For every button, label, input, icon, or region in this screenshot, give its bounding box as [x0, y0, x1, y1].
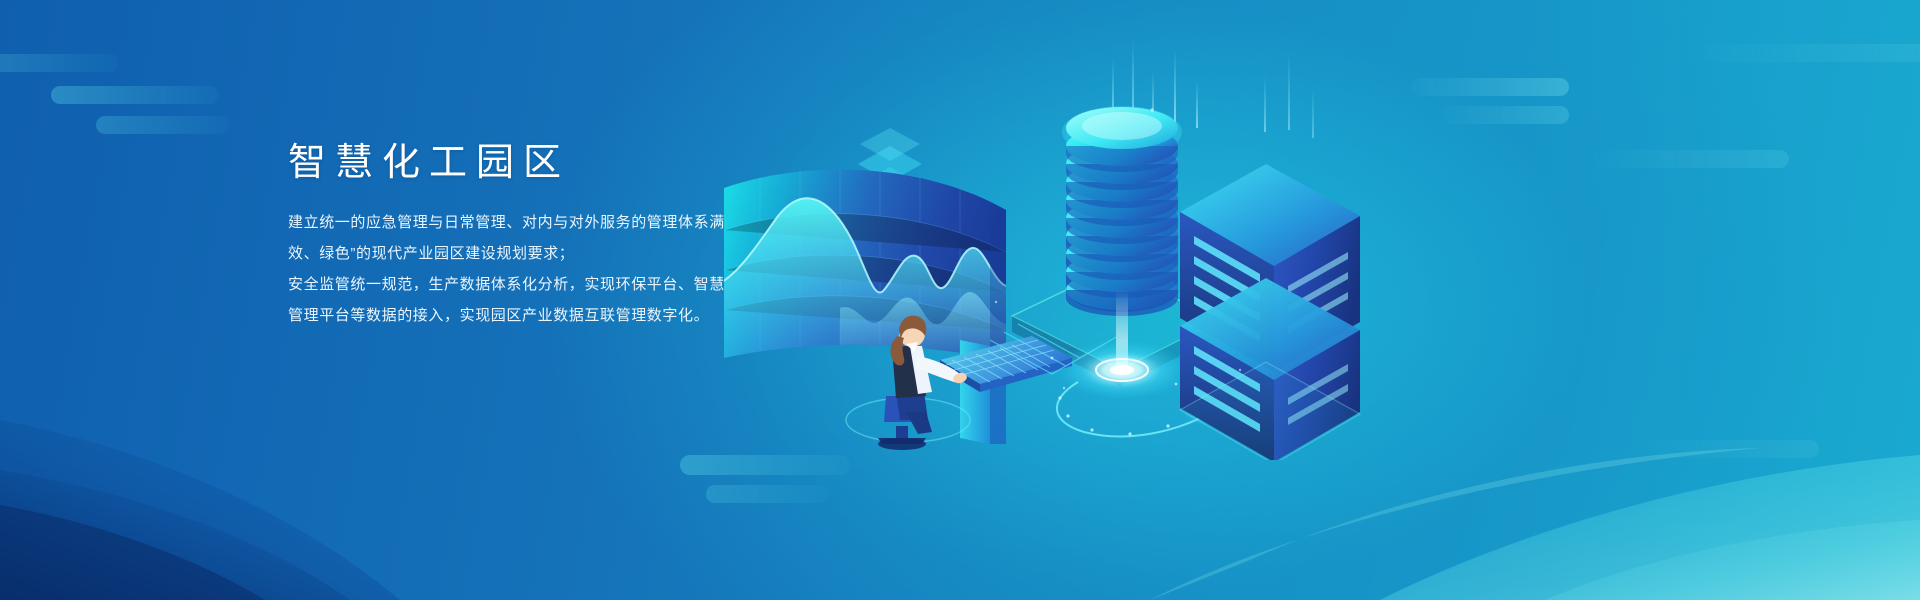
smart-chemical-park-isometric-illustration [660, 40, 1420, 460]
cloud-streak-left [0, 54, 229, 134]
glow-node [1056, 340, 1188, 400]
cloud-streak-right [1411, 44, 1920, 458]
curved-dashboard-wall [700, 160, 1006, 444]
cloud-streak-mid [680, 455, 850, 503]
hero-banner: 智慧化工园区 建立统一的应急管理与日常管理、对内与对外服务的管理体系满足“安全、… [0, 0, 1920, 600]
